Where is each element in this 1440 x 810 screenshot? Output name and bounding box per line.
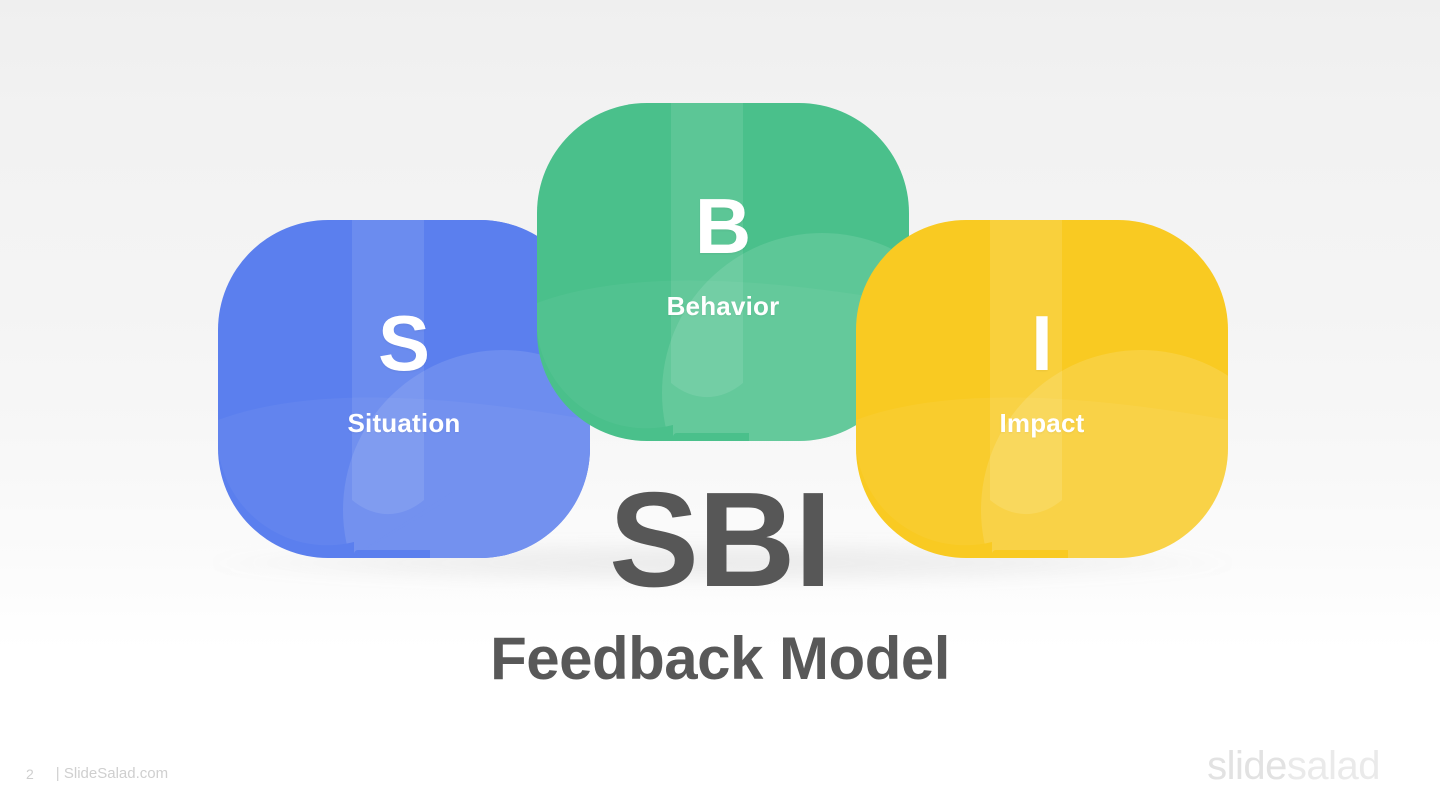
speech-bubble-behavior-shape <box>537 103 909 558</box>
footer-left: 2 | SlideSalad.com <box>26 765 168 782</box>
speech-bubble-situation[interactable]: S Situation <box>218 220 590 675</box>
impact-letter: I <box>856 304 1228 382</box>
speech-bubble-impact-shape <box>856 220 1228 675</box>
slidesalad-logo[interactable]: slidesalad <box>1207 746 1380 786</box>
situation-label: Situation <box>218 410 590 436</box>
impact-label: Impact <box>856 410 1228 436</box>
slidesalad-logo-first: slide <box>1207 744 1287 788</box>
speech-bubble-situation-shape <box>218 220 590 675</box>
situation-letter: S <box>218 304 590 382</box>
behavior-letter: B <box>537 187 909 265</box>
speech-bubble-impact[interactable]: I Impact <box>856 220 1228 675</box>
footer-site-label: | SlideSalad.com <box>56 765 168 782</box>
slidesalad-logo-second: salad <box>1287 744 1380 788</box>
slide-canvas: S Situation B Behavior <box>0 0 1440 810</box>
behavior-label: Behavior <box>537 293 909 319</box>
slide-page-number: 2 <box>26 766 34 782</box>
speech-bubble-behavior[interactable]: B Behavior <box>537 103 909 558</box>
